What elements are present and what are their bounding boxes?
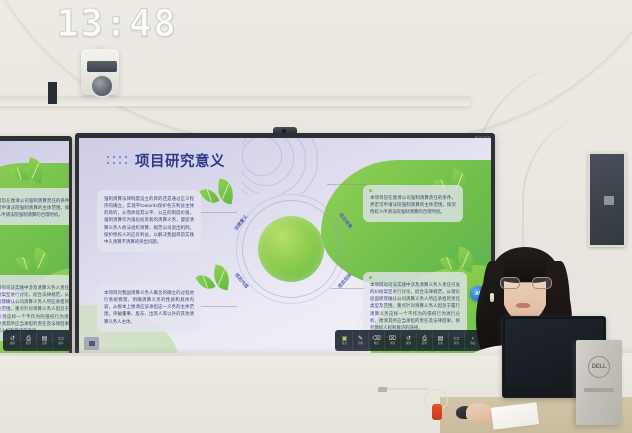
- presenter-earring: [490, 293, 494, 302]
- slide-mirror-content: 本项目旨在厘清公司强制清算责任的条件，界定可申请法院强制清算的主体范围，探究债权…: [0, 141, 69, 354]
- toolbar-label: 清除: [390, 343, 395, 346]
- desk-cable: [385, 388, 429, 390]
- title-dots-decor-icon: [107, 156, 128, 165]
- toolbar-label: 保存: [454, 343, 459, 346]
- decor-arcs-top: [242, 138, 322, 194]
- callout-box: 强制清算法律制度设立的目的还是通过正义程序的确立，实现平towards保护各方利…: [97, 190, 201, 252]
- toolbar-label: 橡皮: [374, 343, 379, 346]
- callout-bullet-icon: [369, 189, 372, 192]
- toolbar-icon: ↺: [10, 336, 15, 342]
- pen-icon: ✎: [358, 336, 363, 342]
- glasses-bridge: [520, 282, 532, 283]
- wall-panel-indicator-icon: [604, 196, 614, 205]
- secondary-annotation-toolbar[interactable]: ↺ 撤销 ⎙ 截屏 ▤ 白板 ▭ 保存: [3, 330, 69, 351]
- toolbar-item-pen[interactable]: ✎ 画笔: [353, 331, 369, 350]
- toolbar-item-eraser[interactable]: ⌫ 橡皮: [369, 331, 385, 350]
- toolbar-label: 截屏: [422, 343, 427, 346]
- camera-body: [81, 49, 119, 95]
- toolbar-item-screenshot[interactable]: ⎙ 截屏: [417, 331, 433, 350]
- screen-share-icon[interactable]: [84, 337, 99, 350]
- desk-cable-plug: [378, 387, 387, 392]
- annotation-toolbar[interactable]: ▣ 批注 ✎ 画笔 ⌫ 橡皮 ⌧ 清除 ↺ 撤销: [335, 330, 483, 351]
- glasses-lens-left: [500, 277, 520, 289]
- glasses-lens-right: [532, 277, 552, 289]
- slide-title: 项目研究意义: [135, 150, 225, 171]
- callout-box: 本项目对我国清算义务人概念的确立的过程进行系统梳理，明确清算义务的性质和具体内容…: [97, 284, 201, 332]
- slide-title-row: 项目研究意义: [107, 150, 225, 171]
- toolbar-label: 撤销: [10, 343, 15, 346]
- annotate-icon: ▣: [342, 336, 348, 342]
- tower-vent-slot: [584, 388, 614, 392]
- wall-shelf-ledge: [0, 96, 470, 106]
- dell-logo-text: DELL: [592, 364, 606, 370]
- toolbar-item-undo[interactable]: ↺ 撤销: [401, 331, 417, 350]
- connector-line-left-top: [201, 212, 237, 213]
- dell-logo: DELL: [588, 356, 610, 378]
- display-webcam-icon: [273, 127, 297, 134]
- callout-text: 本项目对司法实践中涉及清算义务人责任引发的纠纷案型进行讨论，结合法律规范，从理论…: [0, 286, 69, 334]
- presentation-slide: 项目研究意义: [79, 138, 491, 355]
- undo-icon: ↺: [406, 336, 411, 342]
- wall-clock: 13:48: [62, 2, 172, 44]
- toolbar-item[interactable]: ↺ 撤销: [5, 331, 21, 350]
- connector-line-left-bottom: [201, 306, 237, 307]
- callout-text: 本项目对司法实践中涉及清算义务人责任引发的纠纷案型进行讨论，结合法律规范，从理论…: [370, 283, 460, 331]
- dell-desktop-tower: DELL: [576, 340, 622, 425]
- toolbar-label: 截屏: [26, 343, 31, 346]
- presenter-mouth: [516, 303, 530, 308]
- toolbar-label: 画笔: [358, 343, 363, 346]
- callout-box: 本项目对司法实践中涉及清算义务人责任引发的纠纷案型进行讨论，结合法律规范，从理论…: [363, 272, 467, 338]
- toolbar-item[interactable]: ⎙ 截屏: [21, 331, 37, 350]
- eraser-icon: ⌫: [372, 336, 380, 342]
- toolbar-item[interactable]: ▤ 白板: [37, 331, 53, 350]
- main-interactive-display[interactable]: MAXHUB: [75, 133, 495, 361]
- presenter-glasses-icon: [500, 277, 552, 289]
- save-icon: ▭: [454, 336, 460, 342]
- callout-text: 本项目对我国清算义务人概念的确立的过程进行系统梳理，明确清算义务的性质和具体内容…: [104, 291, 194, 325]
- callout-text: 强制清算法律制度设立的目的还是通过正义程序的确立，实现平towards保护各方利…: [104, 197, 194, 245]
- toolbar-label: 撤销: [406, 343, 411, 346]
- screenshot-icon: ⎙: [422, 336, 427, 342]
- red-marker-pen: [432, 404, 442, 420]
- toolbar-item-annotate[interactable]: ▣ 批注: [337, 331, 353, 350]
- center-ring-diagram: 法律意义 项目背景 项目内容 项目目标: [236, 194, 346, 304]
- camera-lens-icon: [90, 74, 114, 98]
- camera-ir-strip: [87, 61, 117, 72]
- toolbar-item[interactable]: ▭ 保存: [53, 331, 69, 350]
- presenter-hand: [466, 403, 492, 421]
- toolbar-label: 批注: [342, 343, 347, 346]
- toolbar-icon: ▤: [42, 336, 48, 342]
- toolbar-label: 保存: [58, 343, 63, 346]
- toolbar-label: 白板: [438, 343, 443, 346]
- secondary-slide-mirror: 本项目旨在厘清公司强制清算责任的条件，界定可申请法院强制清算的主体范围，探究债权…: [0, 141, 69, 354]
- secondary-display[interactable]: 本项目旨在厘清公司强制清算责任的条件，界定可申请法院强制清算的主体范围，探究债权…: [0, 136, 72, 360]
- secondary-screen: 本项目旨在厘清公司强制清算责任的条件，界定可申请法院强制清算的主体范围，探究债权…: [0, 141, 69, 354]
- callout-text: 本项目旨在厘清公司强制清算责任的条件，界定可申请法院强制清算的主体范围，探究债权…: [0, 199, 69, 218]
- toolbar-label: 白板: [42, 343, 47, 346]
- clock-time: 13:48: [56, 2, 177, 45]
- ceiling-camera: [79, 45, 121, 97]
- main-screen[interactable]: 项目研究意义: [79, 138, 491, 355]
- toolbar-icon: ▭: [58, 336, 64, 342]
- toolbar-item-whiteboard[interactable]: ▤ 白板: [433, 331, 449, 350]
- classroom-scene: 13:48: [0, 0, 632, 433]
- callout-bullet-icon: [369, 276, 372, 279]
- whiteboard-icon: ▤: [438, 336, 444, 342]
- callout-box: 本项目旨在厘清公司强制清算责任的条件，界定可申请法院强制清算的主体范围，探究债权…: [0, 188, 69, 225]
- monitor-stand: [48, 82, 57, 104]
- leaf-icon: [199, 185, 219, 207]
- toolbar-item-clear[interactable]: ⌧ 清除: [385, 331, 401, 350]
- clear-icon: ⌧: [389, 336, 396, 342]
- ring-core-circle: [258, 216, 324, 282]
- wall-control-panel[interactable]: [588, 152, 626, 247]
- toolbar-icon: ⎙: [26, 336, 31, 342]
- callout-box: 本项目旨在厘清公司强制清算责任的条件，界定可申请法院强制清算的主体范围，探究债权…: [363, 185, 463, 222]
- callout-text: 本项目旨在厘清公司强制清算责任的条件，界定可申请法院强制清算的主体范围，探究债权…: [370, 196, 456, 215]
